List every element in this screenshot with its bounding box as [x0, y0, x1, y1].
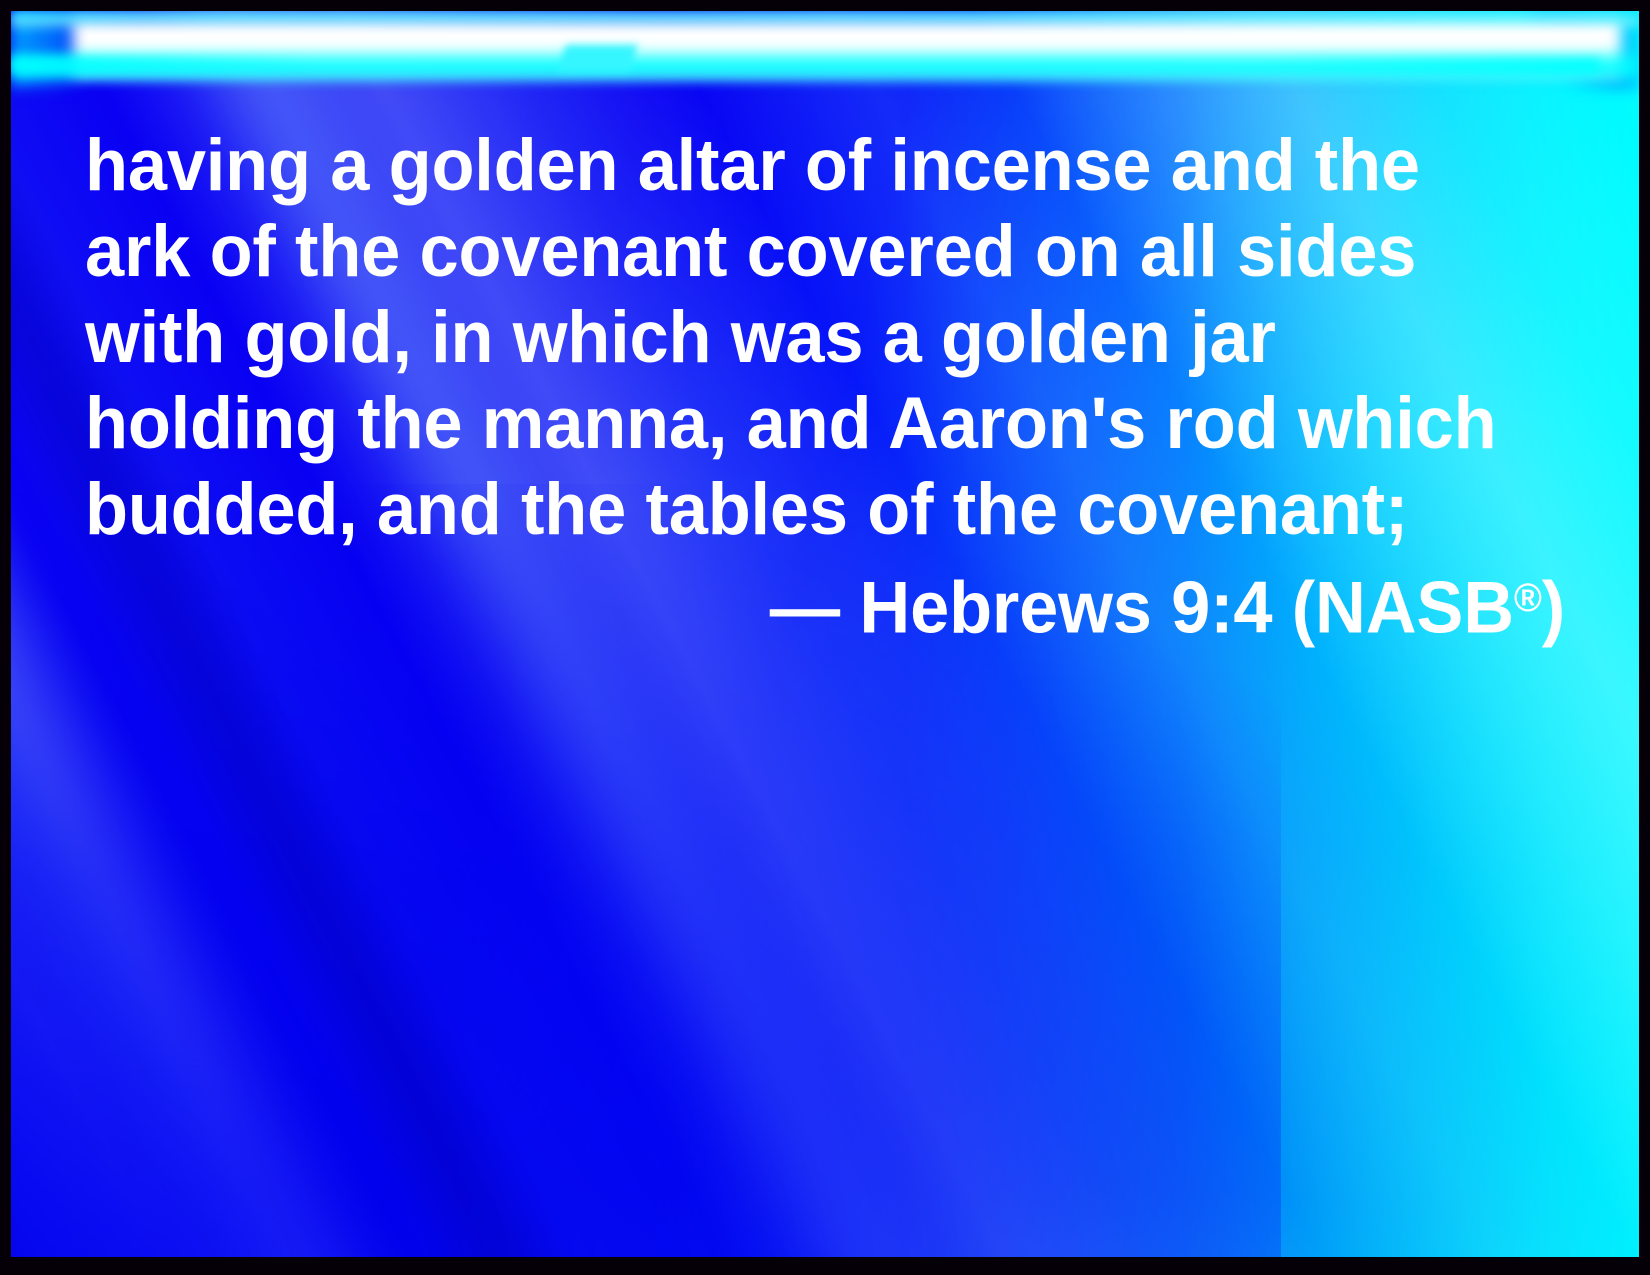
verse-line-4: holding the manna, and Aaron's rod which: [85, 381, 1513, 467]
attribution-open-paren: (: [1292, 568, 1315, 649]
verse-line-1: having a golden altar of incense and the: [85, 123, 1513, 209]
attribution-spacer-2: [1152, 568, 1171, 649]
verse-line-5: budded, and the tables of the covenant;: [85, 467, 1513, 553]
attribution-translation: NASB: [1315, 568, 1514, 649]
attribution-spacer-3: [1272, 568, 1291, 649]
attribution-spacer-1: [840, 568, 859, 649]
verse-text-block: having a golden altar of incense and the…: [85, 123, 1565, 652]
attribution-close-paren: ): [1542, 568, 1565, 649]
registered-trademark-icon: ®: [1514, 576, 1542, 620]
verse-line-2: ark of the covenant covered on all sides: [85, 209, 1513, 295]
verse-line-3: with gold, in which was a golden jar: [85, 295, 1513, 381]
slide-panel: having a golden altar of incense and the…: [11, 11, 1639, 1257]
verse-attribution: — Hebrews 9:4 (NASB®): [137, 555, 1565, 652]
bible-verse-slide: having a golden altar of incense and the…: [0, 0, 1650, 1275]
attribution-book: Hebrews: [859, 568, 1151, 649]
attribution-em-dash: —: [770, 568, 840, 649]
attribution-chapter-verse: 9:4: [1171, 568, 1272, 649]
